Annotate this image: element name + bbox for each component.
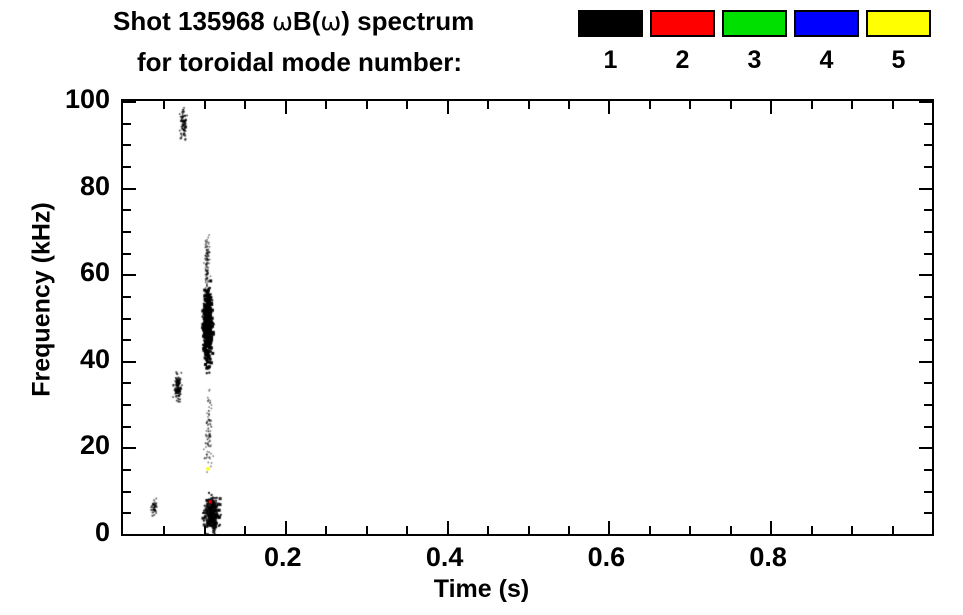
- y-minor-tick: [123, 209, 131, 211]
- y-minor-tick: [123, 491, 131, 493]
- y-major-tick: [123, 447, 136, 449]
- y-minor-tick-right: [924, 339, 932, 341]
- y-minor-tick: [123, 404, 131, 406]
- legend-label-n2: 2: [650, 48, 715, 73]
- y-minor-tick-right: [924, 296, 932, 298]
- x-major-tick: [447, 521, 449, 534]
- title-mid: B(: [293, 6, 320, 36]
- legend-label-n3: 3: [722, 48, 787, 73]
- y-minor-tick: [123, 339, 131, 341]
- legend-item-n1: 1: [578, 10, 643, 73]
- legend-swatch-n4: [794, 10, 859, 37]
- y-minor-tick-right: [924, 491, 932, 493]
- y-major-tick: [123, 534, 136, 536]
- x-axis-title: Time (s): [0, 575, 963, 604]
- x-minor-tick: [892, 526, 894, 534]
- x-minor-tick: [163, 526, 165, 534]
- x-minor-tick: [204, 526, 206, 534]
- x-minor-tick: [811, 526, 813, 534]
- y-minor-tick-right: [924, 166, 932, 168]
- x-tick-label-0.2: 0.2: [238, 544, 328, 571]
- x-minor-tick-top: [568, 101, 570, 109]
- mode-number-legend: 12345: [578, 10, 958, 90]
- y-minor-tick-right: [924, 426, 932, 428]
- spectrum-plot-figure: Shot 135968 ωB(ω) spectrum for toroidal …: [0, 0, 963, 615]
- x-minor-tick: [649, 526, 651, 534]
- y-major-tick: [123, 274, 136, 276]
- x-minor-tick-top: [163, 101, 165, 109]
- x-major-tick-top: [447, 101, 449, 114]
- y-minor-tick-right: [924, 209, 932, 211]
- y-major-tick: [123, 361, 136, 363]
- x-minor-tick-top: [851, 101, 853, 109]
- x-minor-tick: [406, 526, 408, 534]
- y-major-tick-right: [919, 361, 932, 363]
- x-major-tick-top: [285, 101, 287, 114]
- x-minor-tick: [244, 526, 246, 534]
- x-major-tick: [770, 521, 772, 534]
- y-tick-label-0: 0: [95, 519, 110, 546]
- x-major-tick-top: [608, 101, 610, 114]
- legend-swatch-n3: [722, 10, 787, 37]
- y-minor-tick: [123, 296, 131, 298]
- legend-item-n2: 2: [650, 10, 715, 73]
- title-prefix: Shot 135968: [113, 6, 272, 36]
- figure-title-line-2: for toroidal mode number:: [137, 47, 462, 78]
- x-minor-tick-top: [892, 101, 894, 109]
- y-minor-tick-right: [924, 318, 932, 320]
- x-minor-tick: [528, 526, 530, 534]
- spectrogram-data-canvas: [123, 101, 932, 534]
- y-tick-label-40: 40: [80, 346, 110, 373]
- x-major-tick-top: [770, 101, 772, 114]
- plot-area: [121, 99, 934, 536]
- x-minor-tick-top: [204, 101, 206, 109]
- y-minor-tick: [123, 469, 131, 471]
- x-tick-label-0.4: 0.4: [400, 544, 490, 571]
- y-major-tick: [123, 188, 136, 190]
- y-tick-label-100: 100: [65, 86, 110, 113]
- omega-symbol-1: ω: [272, 7, 293, 36]
- y-major-tick: [123, 101, 136, 103]
- y-tick-label-60: 60: [80, 259, 110, 286]
- legend-label-n5: 5: [866, 48, 931, 73]
- legend-item-n4: 4: [794, 10, 859, 73]
- y-major-tick-right: [919, 534, 932, 536]
- title-suffix: ) spectrum: [341, 6, 474, 36]
- x-minor-tick: [325, 526, 327, 534]
- y-major-tick-right: [919, 188, 932, 190]
- x-minor-tick-top: [730, 101, 732, 109]
- x-tick-label-0.8: 0.8: [723, 544, 813, 571]
- x-minor-tick: [851, 526, 853, 534]
- y-minor-tick-right: [924, 123, 932, 125]
- y-minor-tick: [123, 144, 131, 146]
- y-minor-tick-right: [924, 404, 932, 406]
- y-minor-tick-right: [924, 253, 932, 255]
- x-minor-tick-top: [528, 101, 530, 109]
- legend-label-n1: 1: [578, 48, 643, 73]
- x-minor-tick: [568, 526, 570, 534]
- y-minor-tick-right: [924, 469, 932, 471]
- legend-swatch-n1: [578, 10, 643, 37]
- y-minor-tick: [123, 166, 131, 168]
- x-minor-tick-top: [689, 101, 691, 109]
- x-minor-tick-top: [325, 101, 327, 109]
- x-minor-tick: [487, 526, 489, 534]
- x-minor-tick-top: [487, 101, 489, 109]
- x-minor-tick-top: [366, 101, 368, 109]
- y-tick-label-80: 80: [80, 173, 110, 200]
- y-minor-tick: [123, 512, 131, 514]
- y-minor-tick-right: [924, 512, 932, 514]
- x-tick-label-0.6: 0.6: [561, 544, 651, 571]
- y-minor-tick-right: [924, 231, 932, 233]
- legend-swatch-n2: [650, 10, 715, 37]
- y-minor-tick: [123, 123, 131, 125]
- y-minor-tick: [123, 231, 131, 233]
- legend-label-n4: 4: [794, 48, 859, 73]
- x-minor-tick-top: [244, 101, 246, 109]
- y-minor-tick-right: [924, 144, 932, 146]
- y-tick-label-20: 20: [80, 432, 110, 459]
- x-minor-tick-top: [406, 101, 408, 109]
- x-minor-tick: [689, 526, 691, 534]
- y-major-tick-right: [919, 101, 932, 103]
- x-minor-tick-top: [811, 101, 813, 109]
- legend-swatch-n5: [866, 10, 931, 37]
- x-minor-tick: [366, 526, 368, 534]
- y-minor-tick: [123, 318, 131, 320]
- y-axis-title: Frequency (kHz): [28, 170, 57, 430]
- figure-title-line-1: Shot 135968 ωB(ω) spectrum: [113, 6, 474, 37]
- legend-item-n3: 3: [722, 10, 787, 73]
- y-minor-tick: [123, 253, 131, 255]
- x-minor-tick: [730, 526, 732, 534]
- y-minor-tick: [123, 426, 131, 428]
- y-minor-tick-right: [924, 382, 932, 384]
- legend-item-n5: 5: [866, 10, 931, 73]
- x-minor-tick-top: [649, 101, 651, 109]
- y-major-tick-right: [919, 274, 932, 276]
- x-major-tick: [285, 521, 287, 534]
- y-major-tick-right: [919, 447, 932, 449]
- x-major-tick: [608, 521, 610, 534]
- omega-symbol-2: ω: [320, 7, 341, 36]
- y-minor-tick: [123, 382, 131, 384]
